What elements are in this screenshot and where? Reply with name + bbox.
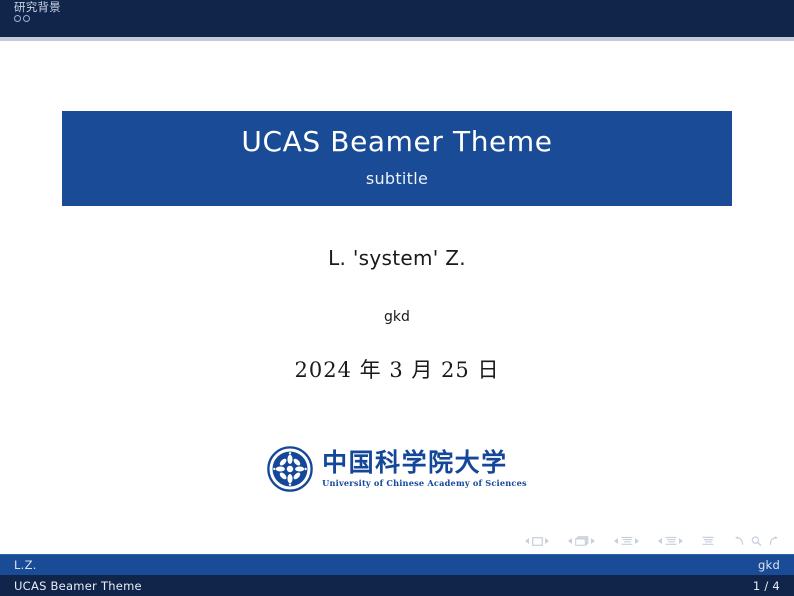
section-nav-icon[interactable] [665, 531, 677, 550]
subsection-nav-icon[interactable] [621, 531, 633, 550]
previous-slide-icon[interactable] [525, 538, 529, 544]
frame-indicator-dot-2[interactable] [23, 15, 30, 22]
back-icon[interactable] [733, 531, 744, 550]
footer-title-row: UCAS Beamer Theme 1 / 4 [0, 575, 794, 596]
author-name: L. 'system' Z. [0, 246, 794, 270]
next-section-icon[interactable] [679, 538, 683, 544]
ucas-emblem-icon [267, 446, 313, 492]
presentation-date: 2024 年 3 月 25 日 [0, 354, 794, 384]
header-navigation-bar: 研究背景 [0, 0, 794, 37]
logo-text-block: 中国科学院大学 University of Chinese Academy of… [322, 450, 527, 488]
previous-section-icon[interactable] [658, 538, 662, 544]
footer-author: L.Z. [14, 558, 758, 572]
ucas-logo: 中国科学院大学 University of Chinese Academy of… [267, 446, 527, 492]
next-frame-icon[interactable] [591, 538, 595, 544]
previous-frame-icon[interactable] [568, 538, 572, 544]
next-slide-icon[interactable] [545, 538, 549, 544]
subsection-nav-group[interactable] [614, 531, 639, 550]
navigation-symbols[interactable] [525, 531, 780, 550]
logo-chinese-name: 中国科学院大学 [322, 450, 527, 476]
slide-body: UCAS Beamer Theme subtitle L. 'system' Z… [0, 41, 794, 554]
search-icon[interactable] [751, 531, 762, 550]
section-title: 研究背景 [14, 2, 794, 14]
page-subtitle: subtitle [62, 169, 732, 188]
forward-icon[interactable] [769, 531, 780, 550]
footer-author-row: L.Z. gkd [0, 554, 794, 575]
slide-nav-group[interactable] [525, 531, 549, 550]
page-title: UCAS Beamer Theme [62, 125, 732, 159]
frame-nav-group[interactable] [568, 531, 595, 550]
footer-page-number: 1 / 4 [753, 579, 780, 593]
slide-nav-icon[interactable] [532, 531, 543, 550]
logo-english-name: University of Chinese Academy of Science… [322, 478, 527, 488]
presentation-icon[interactable] [702, 531, 714, 550]
logo-container: 中国科学院大学 University of Chinese Academy of… [0, 446, 794, 492]
institute-name: gkd [0, 309, 794, 325]
frame-nav-icon[interactable] [575, 531, 589, 550]
frame-indicator-dot-1[interactable] [14, 15, 21, 22]
footer-title: UCAS Beamer Theme [14, 579, 753, 593]
header-content: 研究背景 [0, 0, 794, 22]
beamer-slide: 研究背景 UCAS Beamer Theme subtitle L. 'syst… [0, 0, 794, 596]
previous-subsection-icon[interactable] [614, 538, 618, 544]
section-nav-group[interactable] [658, 531, 683, 550]
footer: L.Z. gkd UCAS Beamer Theme 1 / 4 [0, 554, 794, 596]
footer-institute: gkd [758, 558, 780, 572]
next-subsection-icon[interactable] [635, 538, 639, 544]
frame-indicator-group[interactable] [14, 15, 794, 22]
title-block: UCAS Beamer Theme subtitle [62, 111, 732, 206]
